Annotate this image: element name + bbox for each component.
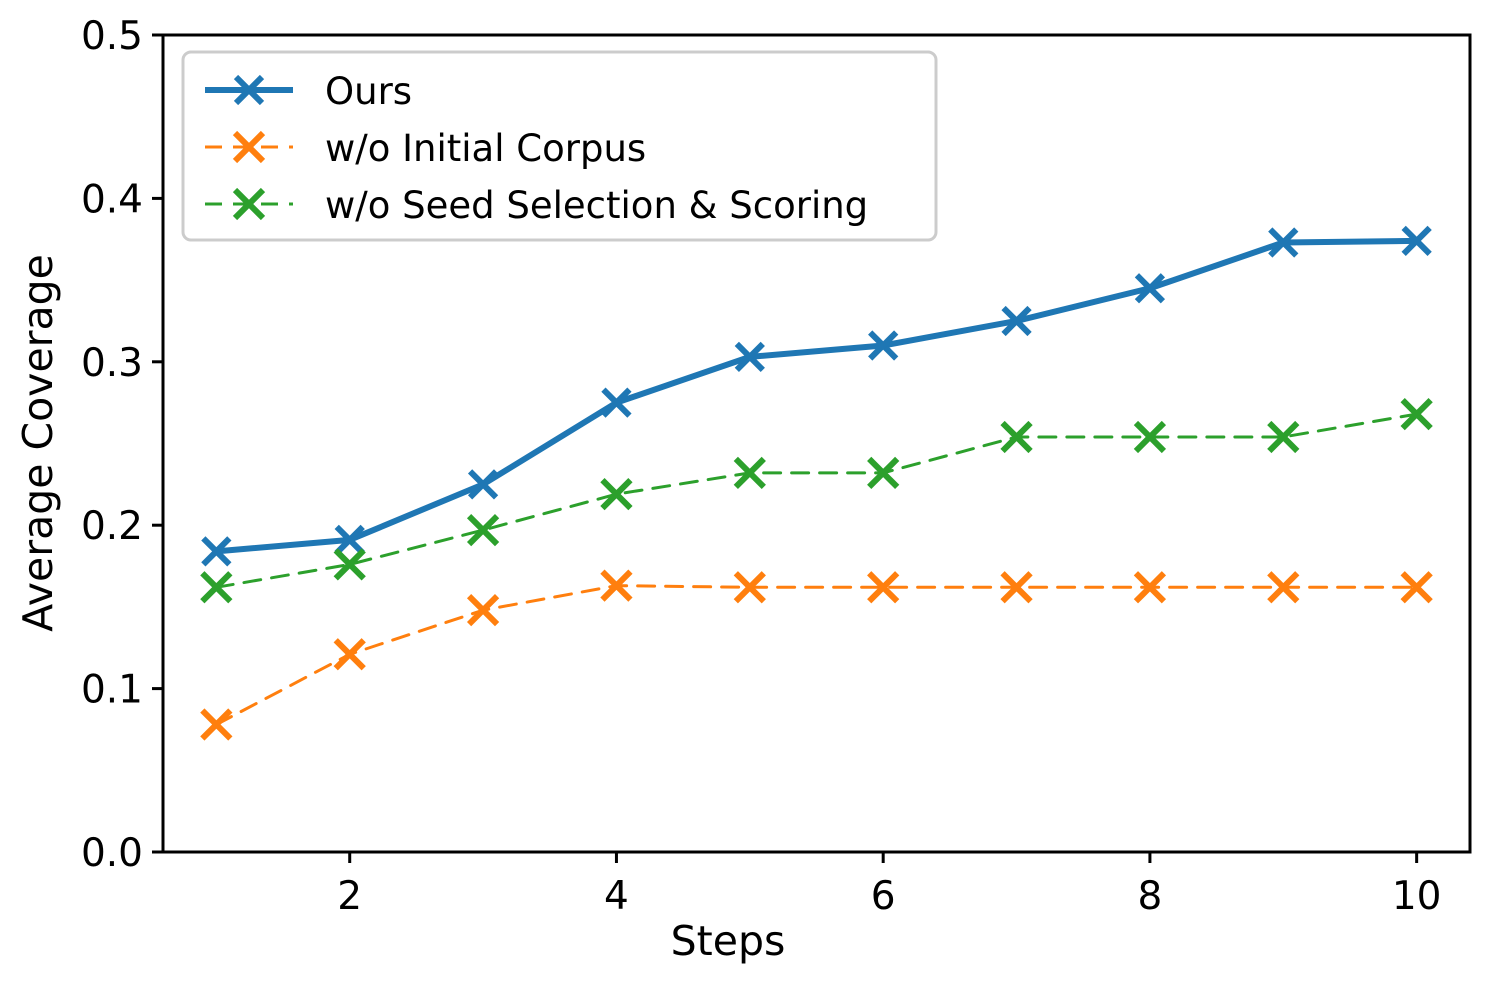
legend-label-2: w/o Initial Corpus (325, 127, 646, 170)
data-point-marker (736, 459, 764, 487)
data-point-marker (336, 550, 364, 578)
data-point-marker (336, 640, 364, 668)
y-tick-label: 0.2 (81, 504, 143, 549)
x-tick-label: 2 (337, 874, 362, 919)
x-tick-label: 10 (1392, 874, 1442, 919)
series-1 (203, 228, 1429, 564)
y-axis-tick-labels: 0.00.10.20.30.40.5 (81, 14, 143, 876)
data-point-marker (470, 471, 496, 497)
data-point-marker (469, 516, 497, 544)
y-tick-label: 0.1 (81, 668, 143, 713)
y-tick-label: 0.3 (81, 341, 143, 386)
legend-label-3: w/o Seed Selection & Scoring (325, 184, 868, 227)
data-series-group (202, 228, 1430, 739)
x-tick-label: 8 (1138, 874, 1163, 919)
series-line (216, 414, 1416, 587)
series-line (216, 586, 1416, 725)
x-tick-label: 6 (871, 874, 896, 919)
y-tick-label: 0.4 (81, 177, 143, 222)
series-3 (202, 400, 1430, 601)
y-axis-label: Average Coverage (14, 254, 62, 632)
data-point-marker (869, 459, 897, 487)
data-point-marker (1403, 400, 1431, 428)
x-axis-tick-labels: 246810 (337, 874, 1441, 919)
y-tick-label: 0.0 (81, 831, 143, 876)
series-line (216, 241, 1416, 551)
y-axis-ticks (152, 35, 163, 852)
x-axis-label: Steps (671, 917, 786, 965)
data-point-marker (202, 573, 230, 601)
x-tick-label: 4 (604, 874, 629, 919)
series-2 (202, 572, 1430, 739)
data-point-marker (469, 596, 497, 624)
legend-label-1: Ours (325, 70, 412, 113)
y-tick-label: 0.5 (81, 14, 143, 59)
line-chart-canvas: 246810 0.00.10.20.30.40.5 Steps Average … (0, 0, 1493, 988)
data-point-marker (602, 480, 630, 508)
chart-figure: 246810 0.00.10.20.30.40.5 Steps Average … (0, 0, 1493, 988)
x-axis-ticks (350, 852, 1417, 863)
data-point-marker (202, 711, 230, 739)
chart-legend: Oursw/o Initial Corpusw/o Seed Selection… (183, 52, 936, 240)
